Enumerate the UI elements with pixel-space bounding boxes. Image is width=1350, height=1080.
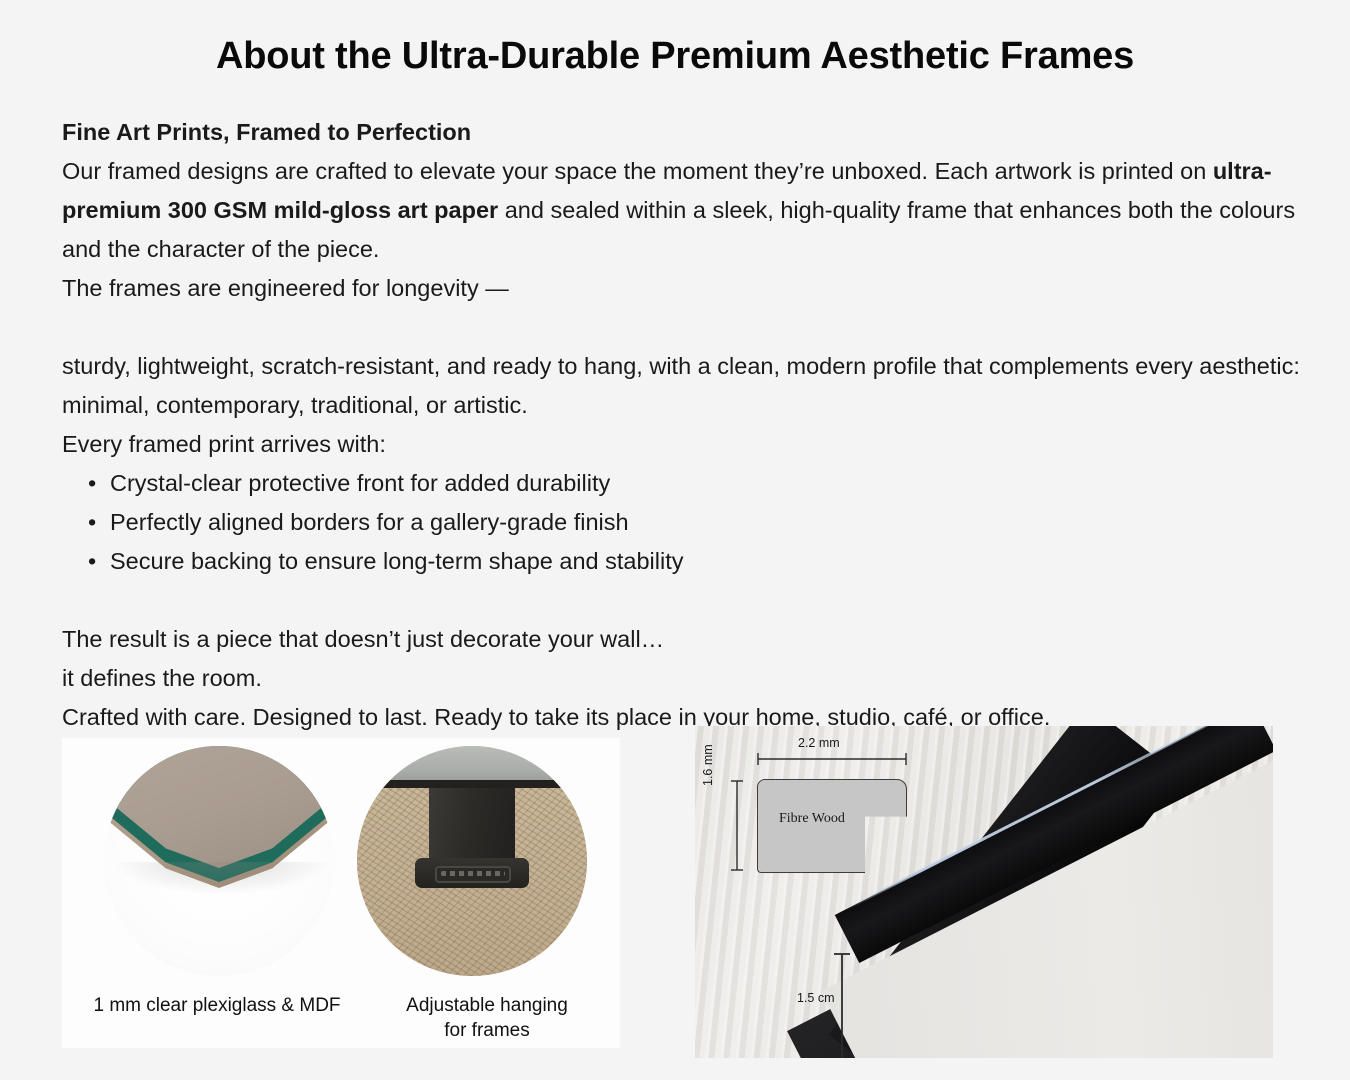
list-item: •Perfectly aligned borders for a gallery… bbox=[110, 503, 1312, 542]
list-item-label: Perfectly aligned borders for a gallery-… bbox=[110, 509, 629, 535]
paragraph-intro-part1: Our framed designs are crafted to elevat… bbox=[62, 158, 1213, 184]
material-label-fibre-wood: Fibre Wood bbox=[779, 811, 845, 827]
feature-list: •Crystal-clear protective front for adde… bbox=[62, 464, 1312, 581]
bullet-icon: • bbox=[88, 503, 96, 542]
paragraph-spacer bbox=[62, 308, 1312, 347]
frame-back-edge bbox=[357, 746, 587, 782]
list-item: •Secure backing to ensure long-term shap… bbox=[110, 542, 1312, 581]
about-frames-body-copy: Fine Art Prints, Framed to Perfection Ou… bbox=[62, 113, 1312, 737]
page-title: About the Ultra-Durable Premium Aestheti… bbox=[0, 0, 1350, 78]
paragraph-intro: Our framed designs are crafted to elevat… bbox=[62, 152, 1312, 269]
paragraph-qualities: sturdy, lightweight, scratch-resistant, … bbox=[62, 347, 1312, 425]
dimension-label-depth: 1.5 cm bbox=[797, 991, 835, 1005]
plexiglass-mdf-corner-photo bbox=[104, 746, 334, 976]
hanging-bracket-slot bbox=[435, 866, 511, 883]
adjustable-hanging-bracket-photo bbox=[357, 746, 587, 976]
hanging-scene bbox=[357, 746, 587, 976]
paragraph-spacer bbox=[62, 581, 1312, 620]
caption-adjustable-hanging-line1: Adjustable hanging bbox=[362, 993, 612, 1018]
paragraph-longevity: The frames are engineered for longevity … bbox=[62, 269, 1312, 308]
caption-adjustable-hanging-line2: for frames bbox=[362, 1018, 612, 1043]
board-shadow bbox=[114, 862, 329, 894]
plexiglass-board bbox=[104, 746, 334, 878]
frame-dimensions-figure: 2.2 mm 1.6 mm 1.5 cm Fibre Wood bbox=[695, 726, 1273, 1058]
bullet-icon: • bbox=[88, 542, 96, 581]
frame-edge-shadow bbox=[357, 780, 587, 788]
caption-plexiglass-mdf: 1 mm clear plexiglass & MDF bbox=[72, 993, 362, 1018]
list-item: •Crystal-clear protective front for adde… bbox=[110, 464, 1312, 503]
bullet-icon: • bbox=[88, 464, 96, 503]
paragraph-arrives-with: Every framed print arrives with: bbox=[62, 425, 1312, 464]
print-surface-layer bbox=[104, 746, 334, 868]
dimension-label-height: 1.6 mm bbox=[701, 744, 715, 786]
list-item-label: Crystal-clear protective front for added… bbox=[110, 470, 610, 496]
caption-adjustable-hanging: Adjustable hanging for frames bbox=[362, 993, 612, 1043]
list-item-label: Secure backing to ensure long-term shape… bbox=[110, 548, 683, 574]
section-heading: Fine Art Prints, Framed to Perfection bbox=[62, 113, 1312, 152]
paragraph-result: The result is a piece that doesn’t just … bbox=[62, 620, 1312, 659]
paragraph-defines-room: it defines the room. bbox=[62, 659, 1312, 698]
materials-figure: 1 mm clear plexiglass & MDF Adjustable h… bbox=[62, 738, 620, 1048]
dimension-label-width: 2.2 mm bbox=[798, 736, 840, 750]
plexiglass-scene bbox=[104, 746, 334, 976]
